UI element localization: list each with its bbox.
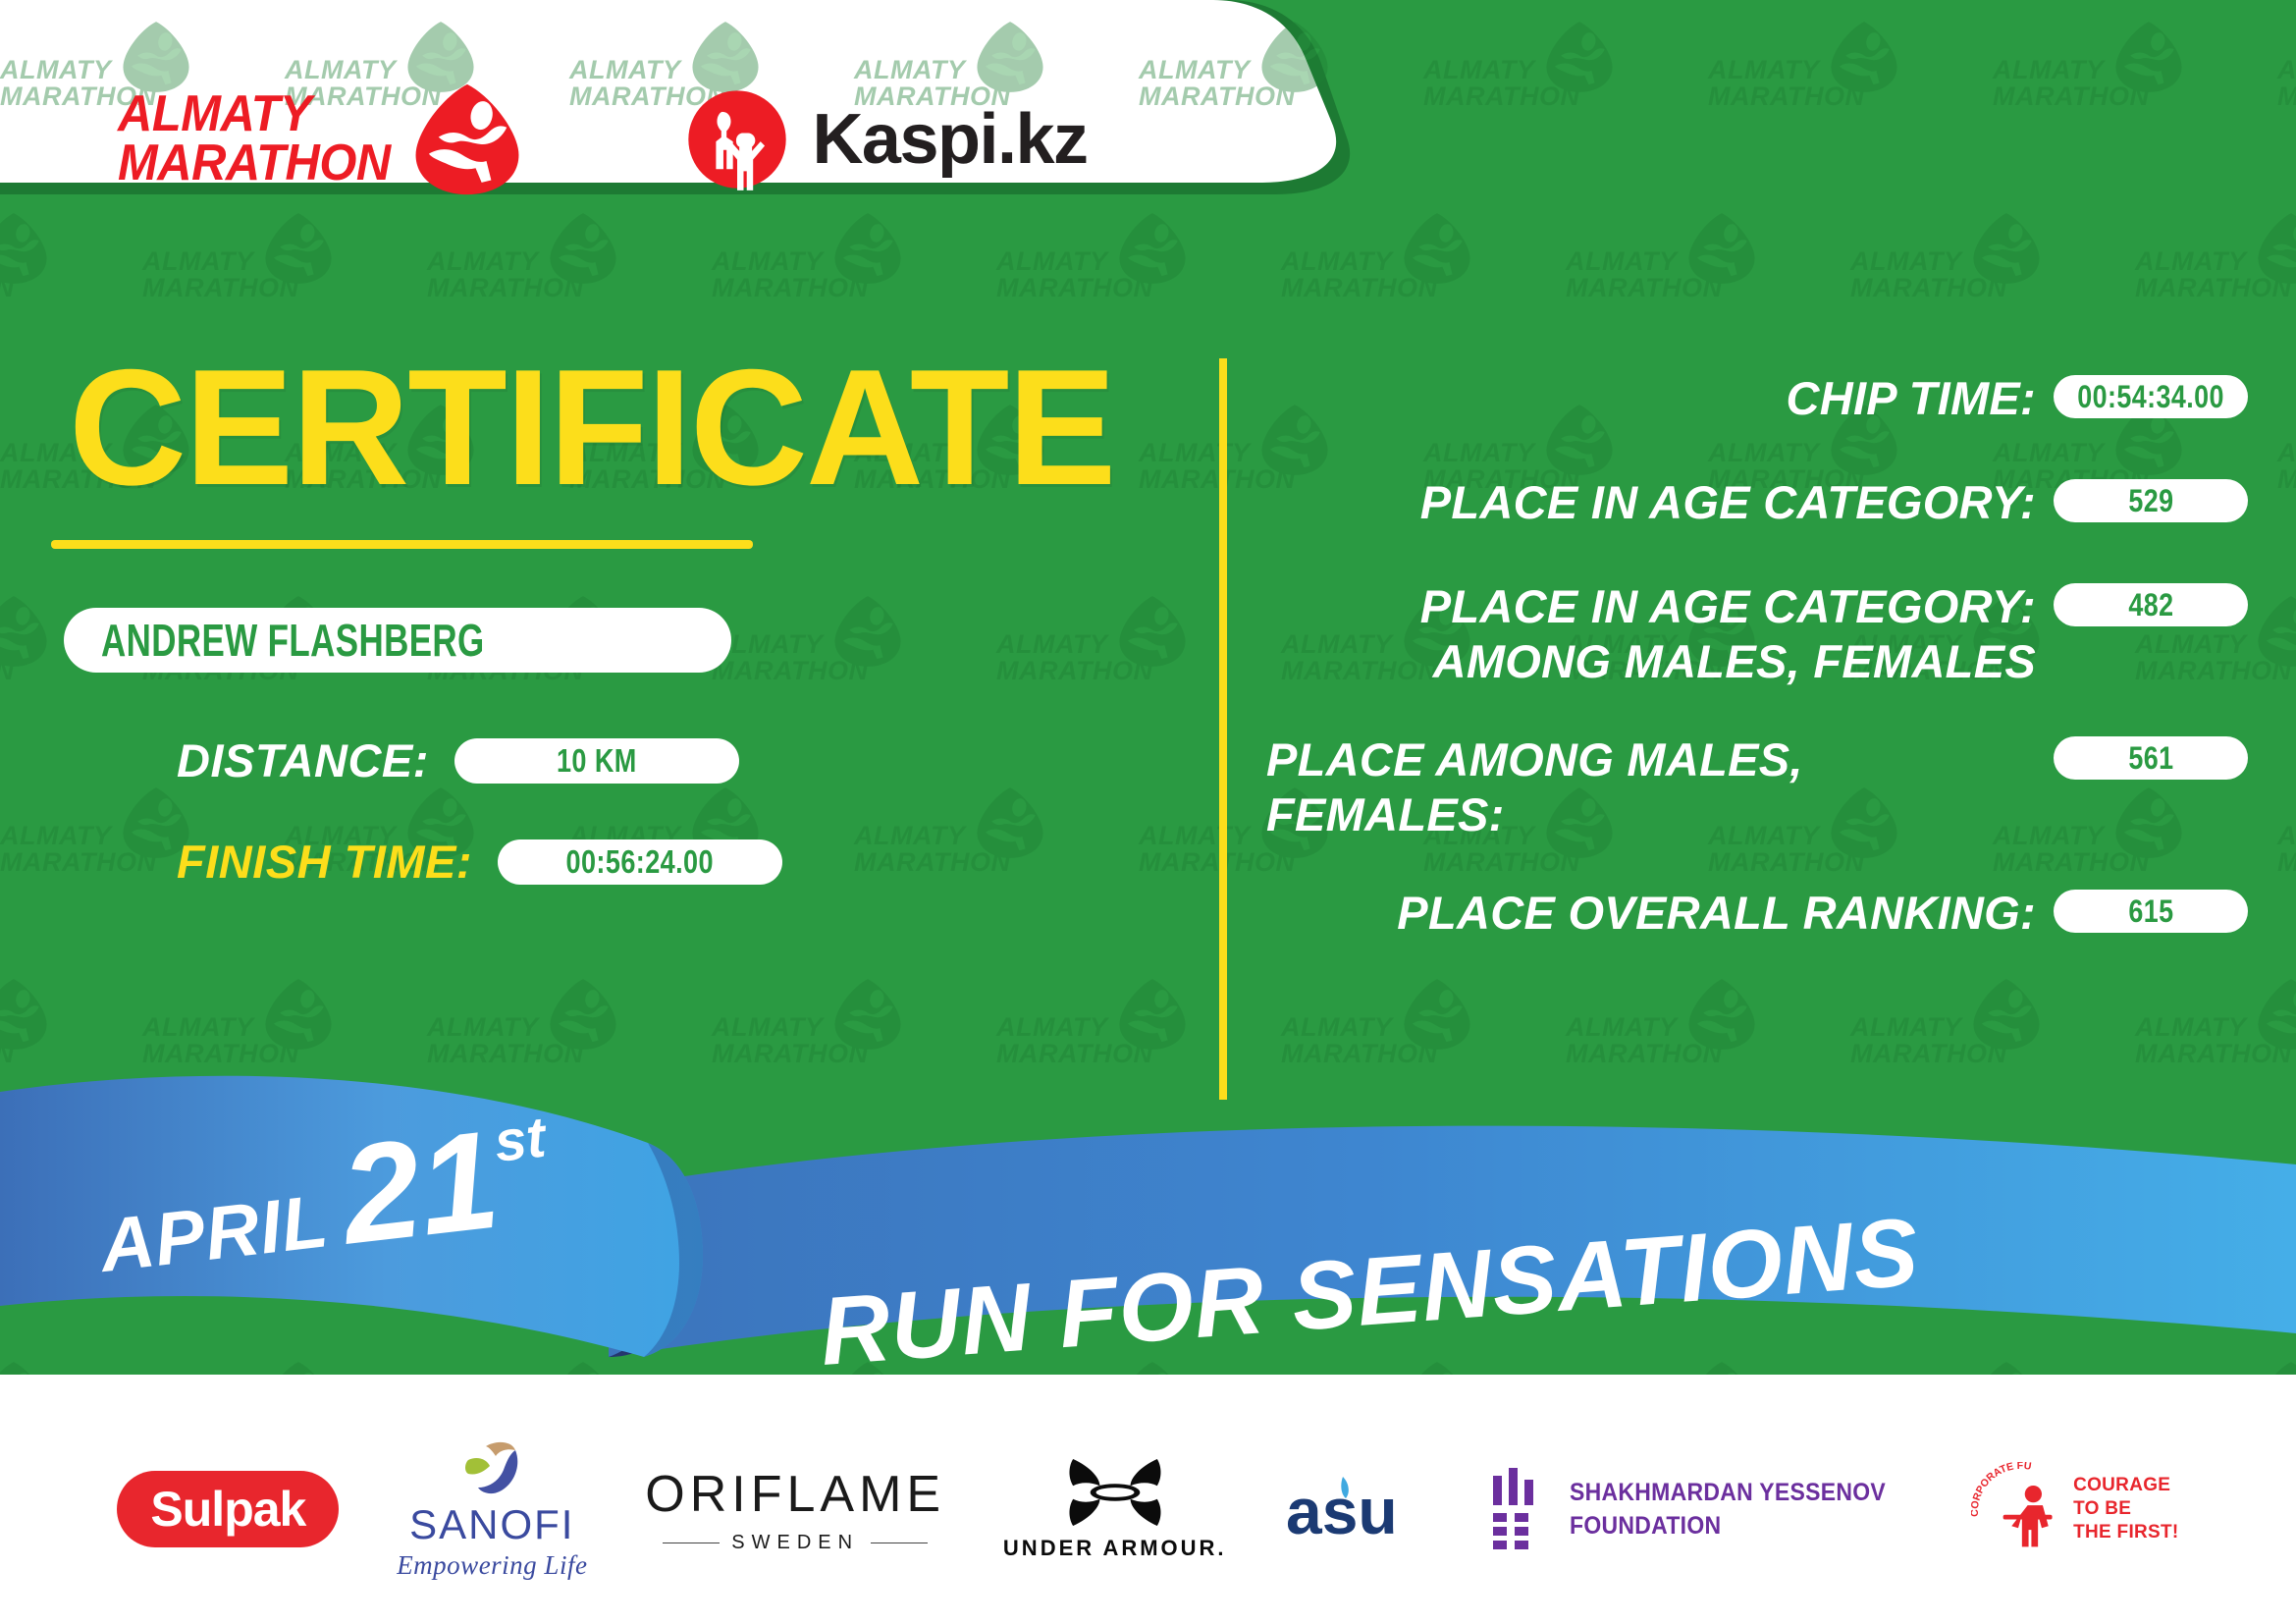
sanofi-leaf-icon [456,1438,527,1497]
sponsor-sulpak: Sulpak [117,1471,339,1547]
almaty-marathon-wordmark: ALMATY MARATHON [118,90,407,189]
under-armour-wordmark: UNDER ARMOUR. [1003,1536,1227,1561]
event-day-suffix: st [491,1105,549,1175]
kaspi-people-icon [684,86,790,192]
finish-time-value-pill: 00:56:24.00 [498,839,782,885]
sponsor-yessenov-foundation: SHAKHMARDAN YESSENOV FOUNDATION [1489,1468,1913,1550]
participant-name: ANDREW FLASHBERG [101,614,485,667]
runner-drop-icon [407,80,527,199]
place-age-value-pill: 529 [2054,479,2248,522]
yessenov-bars-icon [1489,1468,1548,1550]
result-row-chip-time: CHIP TIME: 00:54:34.00 [1266,371,2248,432]
corporate-fund-wordmark: COURAGE TO BE THE FIRST! [2073,1474,2179,1544]
sulpak-wordmark: Sulpak [150,1481,305,1538]
certificate-page: ALMATYMARATHONALMATYMARATHONALMATYMARATH… [0,0,2296,1624]
place-age-gender-value-pill: 482 [2054,583,2248,626]
participant-name-field: ANDREW FLASHBERG [64,608,731,673]
sanofi-tagline: Empowering Life [397,1550,587,1581]
overall-rank-value-pill: 615 [2054,890,2248,933]
finish-time-label: FINISH TIME: [177,835,472,889]
result-row-place-age: PLACE IN AGE CATEGORY: 529 [1266,475,2248,536]
sponsor-under-armour: UNDER ARMOUR. [1003,1457,1227,1561]
cf-line3: THE FIRST! [2073,1521,2179,1544]
sponsor-asu: asu [1284,1467,1431,1551]
results-column: CHIP TIME: 00:54:34.00 PLACE IN AGE CATE… [1266,371,2248,990]
overall-rank-value: 615 [2128,893,2173,930]
kaspi-wordmark: Kaspi.kz [812,99,1087,180]
marathon-logo-line2: MARATHON [118,139,391,189]
cf-line1: COURAGE [2073,1474,2179,1497]
result-row-place-age-gender: PLACE IN AGE CATEGORY: AMONG MALES, FEMA… [1266,579,2248,689]
cf-line2: TO BE [2073,1497,2179,1521]
corporate-fund-icon: CORPORATE FUND [1971,1462,2065,1556]
oriflame-rule-right [871,1543,928,1543]
place-gender-label: PLACE AMONG MALES, FEMALES: [1266,732,2054,842]
left-column: CERTIFICATE ANDREW FLASHBERG DISTANCE: 1… [0,295,1188,889]
kaspi-logo: Kaspi.kz [684,86,1087,192]
finish-time-value: 00:56:24.00 [566,843,714,881]
under-armour-icon [1057,1457,1173,1528]
chip-time-value: 00:54:34.00 [2077,379,2224,415]
chip-time-value-pill: 00:54:34.00 [2054,375,2248,418]
oriflame-sub: SWEDEN [663,1532,928,1554]
title-underline [51,540,753,549]
marathon-logo-line1: ALMATY [118,90,391,139]
place-age-label: PLACE IN AGE CATEGORY: [1266,475,2054,530]
oriflame-rule-left [663,1543,720,1543]
distance-value: 10 KM [557,742,637,780]
place-age-gender-label: PLACE IN AGE CATEGORY: AMONG MALES, FEMA… [1266,579,2054,689]
sponsor-bar: Sulpak SANOFI Empowering Life ORIFLAME S… [0,1394,2296,1624]
oriflame-wordmark: ORIFLAME [645,1465,945,1524]
place-age-gender-value: 482 [2128,587,2173,623]
svg-text:CORPORATE FUND: CORPORATE FUND [1971,1462,2032,1517]
header-logos: ALMATY MARATHON Kaspi.kz [0,0,1088,279]
place-gender-value: 561 [2128,740,2173,777]
almaty-marathon-logo: ALMATY MARATHON [118,80,527,199]
asu-logo-icon: asu [1284,1467,1431,1551]
page-title: CERTIFICATE [69,353,1177,501]
result-row-place-gender: PLACE AMONG MALES, FEMALES: 561 [1266,732,2248,842]
place-gender-value-pill: 561 [2054,736,2248,780]
sponsor-oriflame: ORIFLAME SWEDEN [645,1465,945,1554]
oriflame-tagline: SWEDEN [731,1532,859,1554]
place-age-value: 529 [2128,483,2173,519]
column-divider [1219,358,1227,1100]
yessenov-line1: SHAKHMARDAN YESSENOV [1570,1476,1886,1509]
yessenov-wordmark: SHAKHMARDAN YESSENOV FOUNDATION [1570,1476,1886,1543]
sponsor-sanofi: SANOFI Empowering Life [397,1438,587,1581]
event-day: 21 [335,1110,505,1267]
result-row-overall: PLACE OVERALL RANKING: 615 [1266,886,2248,947]
finish-time-row: FINISH TIME: 00:56:24.00 [177,835,1188,889]
sanofi-wordmark: SANOFI [409,1501,574,1548]
yessenov-line2: FOUNDATION [1570,1509,1886,1543]
sponsor-corporate-fund: CORPORATE FUND COURAGE TO BE THE FIRST! [1971,1462,2179,1556]
distance-label: DISTANCE: [177,733,429,787]
chip-time-label: CHIP TIME: [1266,371,2054,426]
distance-value-pill: 10 KM [454,738,739,784]
distance-row: DISTANCE: 10 KM [177,733,1188,787]
overall-rank-label: PLACE OVERALL RANKING: [1266,886,2054,941]
